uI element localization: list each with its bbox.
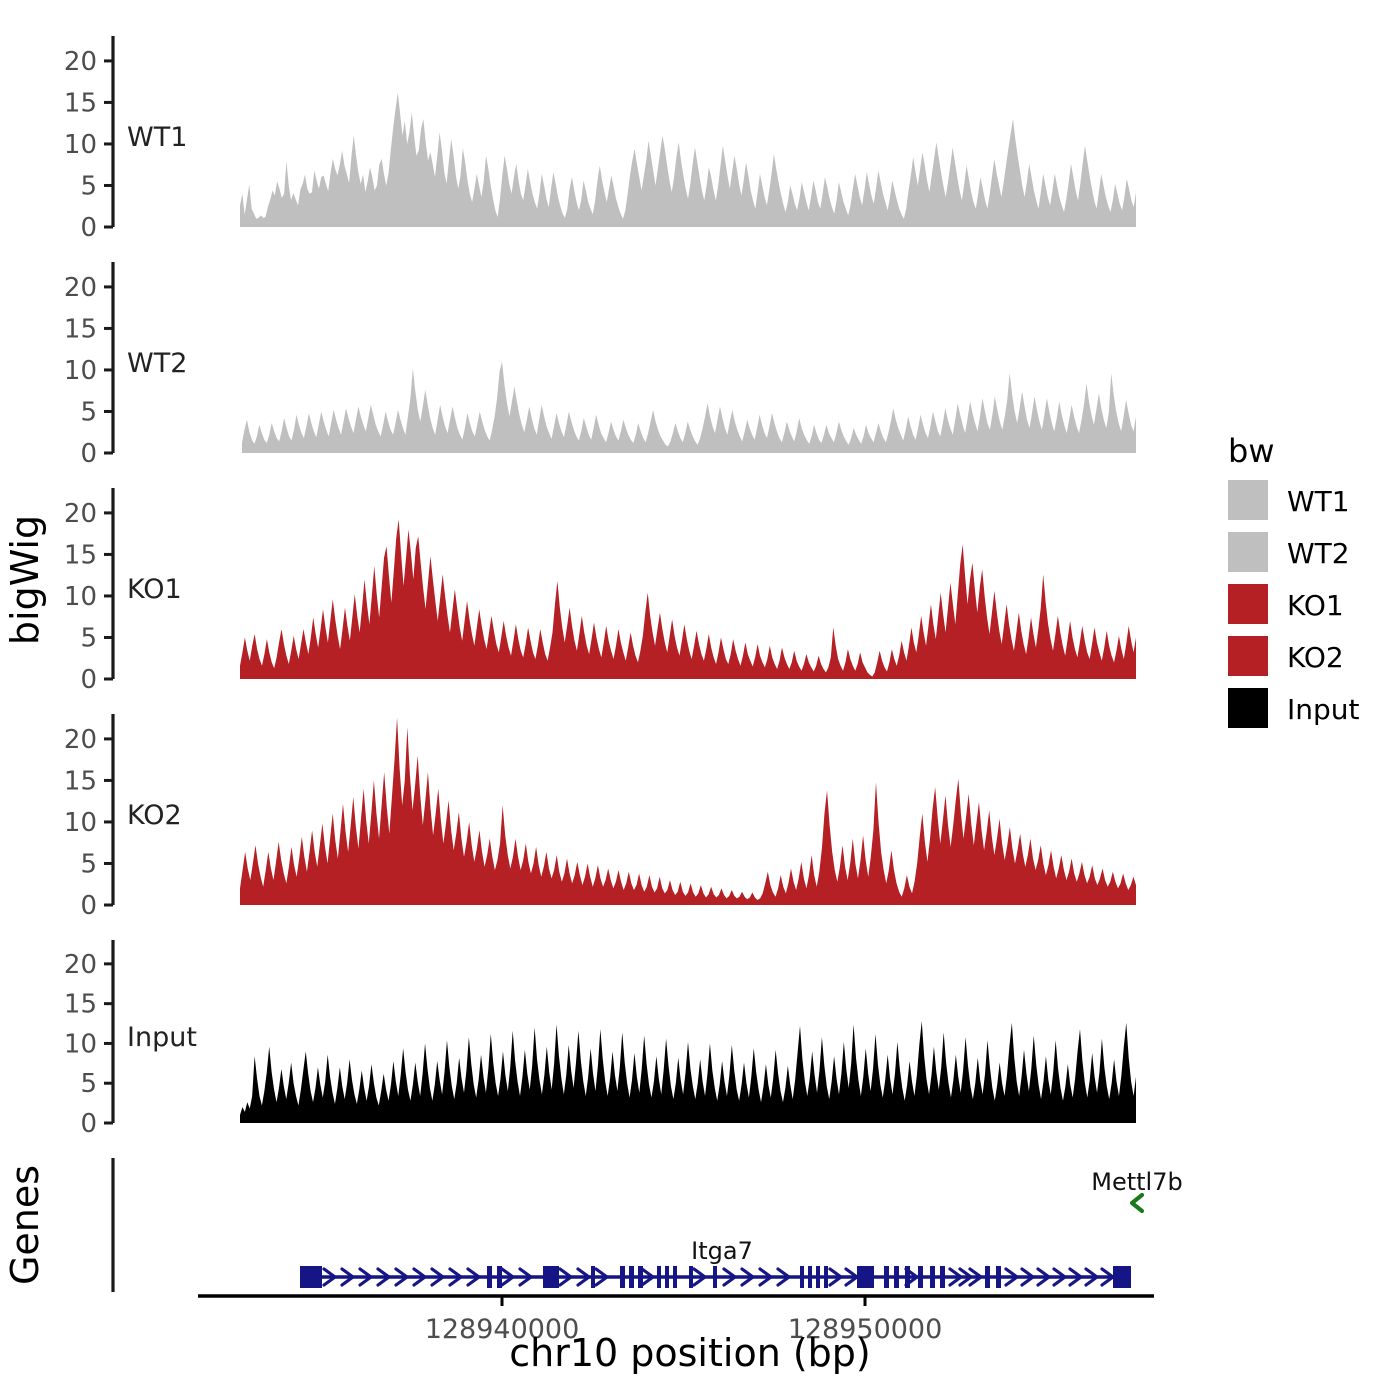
y-tick-label-ko1-5: 5	[80, 623, 97, 653]
figure-canvas: 05101520WT105101520WT205101520KO10510152…	[0, 0, 1400, 1400]
track-wt2: 05101520WT2	[64, 262, 1136, 469]
y-tick-label-ko1-10: 10	[64, 582, 97, 612]
track-label-ko1: KO1	[127, 574, 182, 605]
gene-exon-itga7-14	[808, 1266, 812, 1288]
gene-exon-itga7-16	[824, 1266, 828, 1288]
y-tick-label-wt1-20: 20	[64, 47, 97, 77]
gene-exon-itga7-17	[857, 1266, 874, 1288]
gene-exon-itga7-21	[918, 1266, 923, 1288]
y-tick-label-ko1-0: 0	[80, 665, 97, 695]
y-tick-label-ko2-15: 15	[64, 766, 97, 796]
y-tick-label-input-20: 20	[64, 950, 97, 980]
y-tick-label-wt1-0: 0	[80, 213, 97, 243]
track-ko1: 05101520KO1	[64, 488, 1136, 695]
gene-exon-itga7-26	[1113, 1266, 1131, 1288]
gene-exon-itga7-5	[620, 1266, 625, 1288]
gene-exon-itga7-19	[894, 1266, 899, 1288]
gene-exon-itga7-6	[629, 1266, 634, 1288]
coverage-area-wt2	[242, 362, 1136, 453]
gene-exon-itga7-11	[689, 1266, 693, 1288]
track-label-ko2: KO2	[127, 800, 182, 831]
legend: bwWT1WT2KO1KO2Input	[1228, 432, 1360, 728]
gene-exon-itga7-3	[543, 1266, 559, 1288]
gene-exon-itga7-10	[673, 1266, 677, 1288]
gene-exon-itga7-12	[713, 1266, 717, 1288]
gene-label-mettl7b: Mettl7b	[1091, 1168, 1182, 1196]
gene-strand-arrow-mettl7b	[1132, 1195, 1142, 1211]
y-tick-label-wt2-0: 0	[80, 439, 97, 469]
gene-exon-itga7-25	[996, 1266, 1001, 1288]
y-tick-label-input-0: 0	[80, 1109, 97, 1139]
legend-swatch-ko1[interactable]	[1228, 584, 1268, 624]
legend-label-ko1[interactable]: KO1	[1287, 589, 1344, 622]
x-axis-label: chr10 position (bp)	[509, 1331, 871, 1375]
legend-label-input[interactable]: Input	[1287, 693, 1360, 726]
gene-exon-itga7-15	[816, 1266, 820, 1288]
y-tick-label-ko2-20: 20	[64, 725, 97, 755]
legend-swatch-ko2[interactable]	[1228, 636, 1268, 676]
y-tick-label-input-10: 10	[64, 1029, 97, 1059]
gene-exon-itga7-22	[930, 1266, 935, 1288]
y-tick-label-input-5: 5	[80, 1069, 97, 1099]
y-tick-label-wt2-10: 10	[64, 356, 97, 386]
genes-axis-label: Genes	[3, 1165, 47, 1285]
legend-label-wt2[interactable]: WT2	[1287, 537, 1350, 570]
legend-label-ko2[interactable]: KO2	[1287, 641, 1344, 674]
y-tick-label-wt1-10: 10	[64, 130, 97, 160]
y-tick-label-ko1-20: 20	[64, 499, 97, 529]
gene-exon-itga7-24	[985, 1266, 990, 1288]
gene-label-itga7: Itga7	[691, 1237, 753, 1265]
genes-track: Itga7Mettl7b	[113, 1158, 1183, 1292]
y-tick-label-ko2-5: 5	[80, 849, 97, 879]
track-wt1: 05101520WT1	[64, 36, 1136, 243]
gene-exon-itga7-0	[300, 1266, 322, 1288]
legend-swatch-wt1[interactable]	[1228, 480, 1268, 520]
y-tick-label-wt2-20: 20	[64, 273, 97, 303]
track-ko2: 05101520KO2	[64, 714, 1136, 921]
legend-swatch-input[interactable]	[1228, 688, 1268, 728]
gene-exon-itga7-18	[884, 1266, 889, 1288]
coverage-area-ko2	[240, 717, 1136, 905]
coverage-area-ko1	[240, 520, 1136, 679]
y-tick-label-wt1-5: 5	[80, 171, 97, 201]
track-input: 05101520Input	[64, 940, 1136, 1139]
y-tick-label-wt1-15: 15	[64, 88, 97, 118]
genome-browser-figure: 05101520WT105101520WT205101520KO10510152…	[0, 0, 1400, 1400]
y-tick-label-wt2-15: 15	[64, 314, 97, 344]
gene-exon-itga7-8	[657, 1266, 661, 1288]
track-label-input: Input	[127, 1022, 197, 1053]
coverage-area-wt1	[240, 92, 1136, 227]
gene-exon-itga7-9	[665, 1266, 669, 1288]
gene-exon-itga7-4	[591, 1266, 595, 1288]
track-label-wt1: WT1	[127, 122, 187, 153]
y-tick-label-wt2-5: 5	[80, 397, 97, 427]
legend-title: bw	[1228, 432, 1274, 470]
y-tick-label-input-15: 15	[64, 990, 97, 1020]
legend-label-wt1[interactable]: WT1	[1287, 485, 1350, 518]
y-tick-label-ko2-10: 10	[64, 808, 97, 838]
gene-exon-itga7-23	[940, 1266, 945, 1288]
gene-exon-itga7-1	[487, 1266, 492, 1288]
track-label-wt2: WT2	[127, 348, 187, 379]
bigwig-axis-label: bigWig	[3, 515, 47, 645]
gene-exon-itga7-13	[800, 1266, 804, 1288]
y-tick-label-ko2-0: 0	[80, 891, 97, 921]
coverage-area-input	[240, 1021, 1136, 1123]
y-tick-label-ko1-15: 15	[64, 540, 97, 570]
legend-swatch-wt2[interactable]	[1228, 532, 1268, 572]
